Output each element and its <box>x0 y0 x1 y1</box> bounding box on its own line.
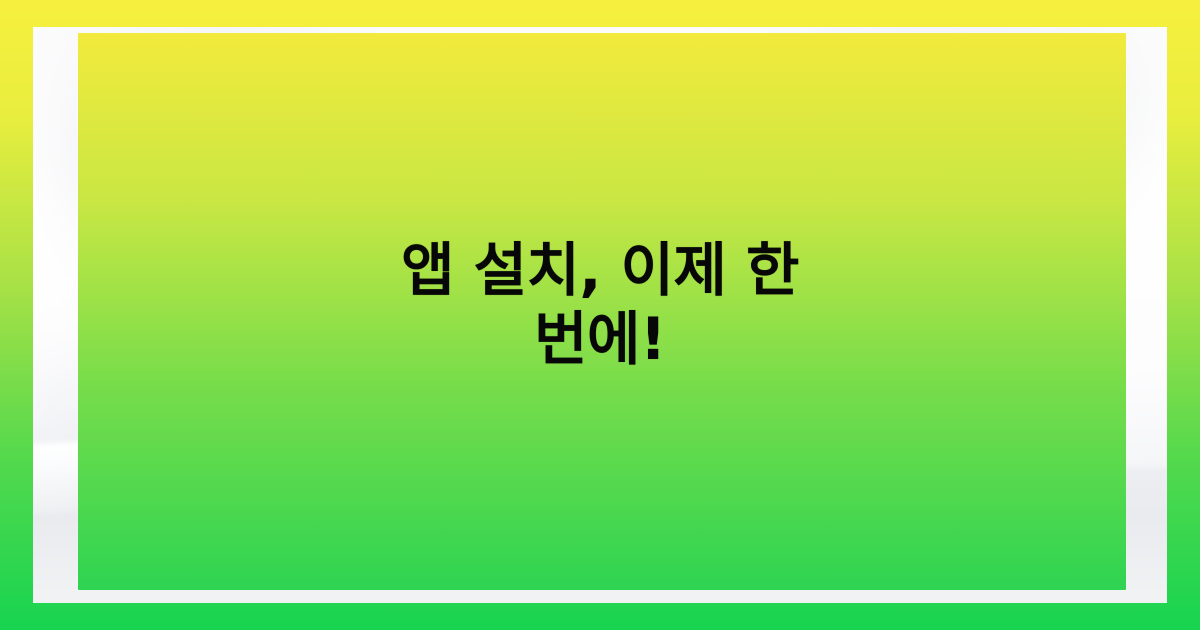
banner-canvas: ⚙ ⋮ Audience overview <box>0 0 1200 630</box>
legend-swatch-desktop <box>836 455 840 459</box>
cohort-col-total: 3% <box>901 185 907 191</box>
cohort-col-total: 0.3% <box>962 172 971 178</box>
legend-label-desktop: Desktop <box>812 456 824 461</box>
cohort-cell <box>930 214 959 232</box>
cohort-row-label: All Users <box>774 220 787 227</box>
cohort-col-head: Week 0 <box>838 187 850 194</box>
overflow-menu-icon[interactable]: ⋮ <box>1022 112 1026 121</box>
cohort-col-total: 1.6% <box>931 178 940 184</box>
cohort-col-head: Week 5 <box>991 154 1004 161</box>
cohort-cell <box>990 171 1021 189</box>
gear-icon[interactable]: ⚙ <box>964 123 975 135</box>
cohort-cell <box>960 192 990 210</box>
cohort-col-total: 100% <box>839 197 848 203</box>
cohort-col-total: 3.4% <box>870 191 878 197</box>
page-title: 앱 설치, 이제 한 번에! <box>0 236 1200 374</box>
cohort-col-head: Week 4 <box>959 161 972 168</box>
cohort-col-head: Week 2 <box>897 174 910 181</box>
card-title: Audience overview <box>650 217 683 229</box>
cohort-col-total: 1.2% <box>994 165 1003 172</box>
donut-hole <box>859 371 903 419</box>
cohort-col-head: Week 3 <box>928 168 941 175</box>
cohort-col-head: Week 1 <box>867 180 879 187</box>
